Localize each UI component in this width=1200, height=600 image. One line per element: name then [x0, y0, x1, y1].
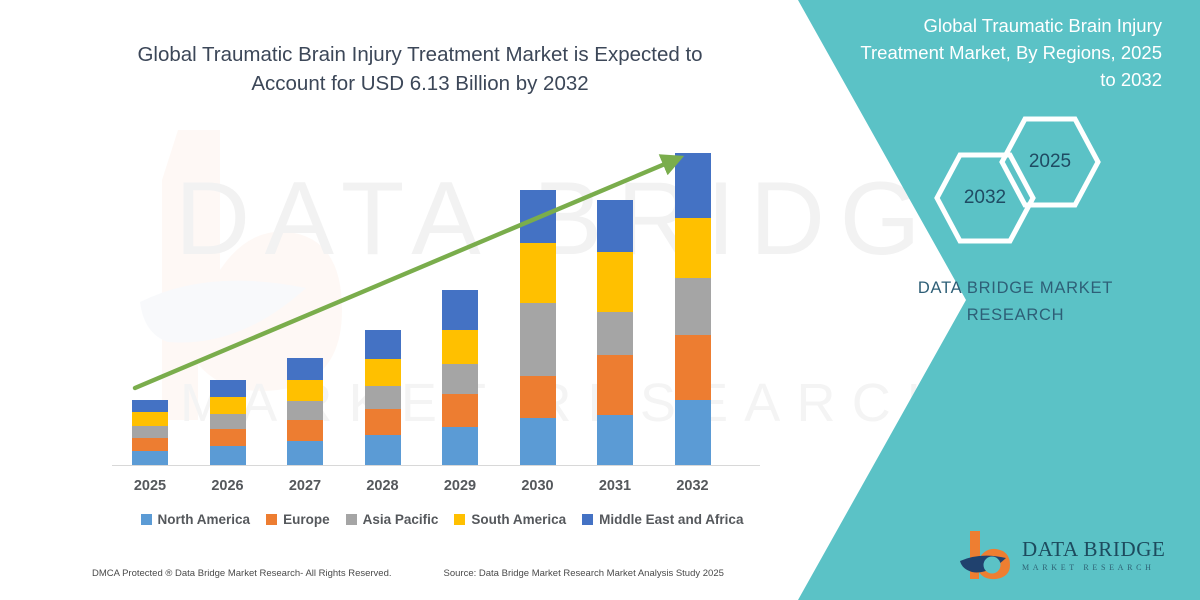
bar-2029 [442, 290, 478, 465]
bar-2027 [287, 358, 323, 465]
bar-segment-2027-south-america [287, 380, 323, 401]
data-bridge-logo: DATA BRIDGE MARKET RESEARCH [958, 524, 1178, 586]
bar-segment-2026-south-america [210, 397, 246, 414]
bar-segment-2028-asia-pacific [365, 386, 401, 409]
legend-swatch-icon [266, 514, 277, 525]
bar-segment-2031-europe [597, 355, 633, 415]
bar-segment-2029-europe [442, 394, 478, 427]
legend-label: Europe [283, 512, 330, 527]
chart-legend: North AmericaEuropeAsia PacificSouth Ame… [112, 512, 772, 527]
bar-segment-2032-europe [675, 335, 711, 400]
bar-segment-2031-asia-pacific [597, 312, 633, 355]
bar-2025 [132, 400, 168, 465]
bar-segment-2032-south-america [675, 218, 711, 278]
bar-segment-2030-north-america [520, 418, 556, 465]
logo-sub-text: MARKET RESEARCH [1022, 563, 1166, 572]
bar-segment-2025-south-america [132, 412, 168, 426]
x-axis-label-2030: 2030 [498, 478, 578, 494]
bar-segment-2032-middle-east-and-africa [675, 153, 711, 218]
legend-item-middle-east-and-africa[interactable]: Middle East and Africa [582, 512, 743, 527]
bar-segment-2027-asia-pacific [287, 401, 323, 420]
bar-segment-2029-south-america [442, 330, 478, 364]
bar-2032 [675, 153, 711, 465]
logo-text-block: DATA BRIDGE MARKET RESEARCH [1022, 538, 1166, 572]
bar-segment-2030-asia-pacific [520, 303, 556, 376]
hex-badge-2025: 2025 [1000, 116, 1100, 208]
x-axis-label-2031: 2031 [575, 478, 655, 494]
bar-segment-2030-south-america [520, 243, 556, 303]
page-title: Global Traumatic Brain Injury Treatment … [110, 40, 730, 98]
legend-item-asia-pacific[interactable]: Asia Pacific [346, 512, 439, 527]
bar-segment-2027-middle-east-and-africa [287, 358, 323, 380]
bar-2026 [210, 380, 246, 465]
bar-2031 [597, 200, 633, 465]
x-axis-label-2028: 2028 [343, 478, 423, 494]
bar-segment-2025-north-america [132, 451, 168, 465]
x-axis-label-2025: 2025 [110, 478, 190, 494]
legend-swatch-icon [454, 514, 465, 525]
x-axis-label-2029: 2029 [420, 478, 500, 494]
infographic-canvas: DATA BRIDGE MARKET RESEARCH 202520262027… [0, 0, 1200, 600]
bar-segment-2031-north-america [597, 415, 633, 465]
panel-brand-text: DATA BRIDGE MARKET RESEARCH [883, 275, 1148, 328]
bar-segment-2032-north-america [675, 400, 711, 465]
legend-label: South America [471, 512, 566, 527]
bar-segment-2030-middle-east-and-africa [520, 190, 556, 243]
legend-label: North America [158, 512, 251, 527]
legend-item-north-america[interactable]: North America [141, 512, 251, 527]
footer-source-text: Source: Data Bridge Market Research Mark… [444, 568, 724, 579]
bar-segment-2026-middle-east-and-africa [210, 380, 246, 397]
bar-segment-2027-north-america [287, 441, 323, 465]
logo-main-text: DATA BRIDGE [1022, 538, 1166, 560]
bar-segment-2025-europe [132, 438, 168, 451]
bar-2030 [520, 190, 556, 465]
bar-segment-2027-europe [287, 420, 323, 441]
x-axis-label-2027: 2027 [265, 478, 345, 494]
legend-label: Asia Pacific [363, 512, 439, 527]
bar-segment-2028-middle-east-and-africa [365, 330, 401, 359]
legend-label: Middle East and Africa [599, 512, 743, 527]
footer-dmca-text: DMCA Protected ® Data Bridge Market Rese… [92, 568, 392, 579]
bar-segment-2026-asia-pacific [210, 414, 246, 429]
bar-segment-2028-north-america [365, 435, 401, 465]
bar-segment-2025-middle-east-and-africa [132, 400, 168, 412]
bar-segment-2030-europe [520, 376, 556, 418]
bar-segment-2028-europe [365, 409, 401, 435]
bar-2028 [365, 330, 401, 465]
x-axis-label-2032: 2032 [653, 478, 733, 494]
hex-badge-2025-label: 2025 [1000, 116, 1100, 208]
bar-segment-2031-middle-east-and-africa [597, 200, 633, 252]
chart-baseline [112, 465, 760, 466]
bar-segment-2032-asia-pacific [675, 278, 711, 335]
bar-segment-2025-asia-pacific [132, 426, 168, 438]
panel-title: Global Traumatic Brain Injury Treatment … [852, 12, 1162, 93]
data-bridge-b-mark-icon [958, 527, 1016, 583]
legend-swatch-icon [582, 514, 593, 525]
bar-segment-2029-north-america [442, 427, 478, 465]
legend-item-europe[interactable]: Europe [266, 512, 330, 527]
bar-segment-2029-asia-pacific [442, 364, 478, 394]
footer: DMCA Protected ® Data Bridge Market Rese… [92, 568, 792, 579]
x-axis-label-2026: 2026 [188, 478, 268, 494]
bar-segment-2026-europe [210, 429, 246, 446]
bar-segment-2026-north-america [210, 446, 246, 465]
bar-segment-2031-south-america [597, 252, 633, 312]
legend-item-south-america[interactable]: South America [454, 512, 566, 527]
legend-swatch-icon [141, 514, 152, 525]
legend-swatch-icon [346, 514, 357, 525]
bar-segment-2029-middle-east-and-africa [442, 290, 478, 330]
bar-segment-2028-south-america [365, 359, 401, 386]
